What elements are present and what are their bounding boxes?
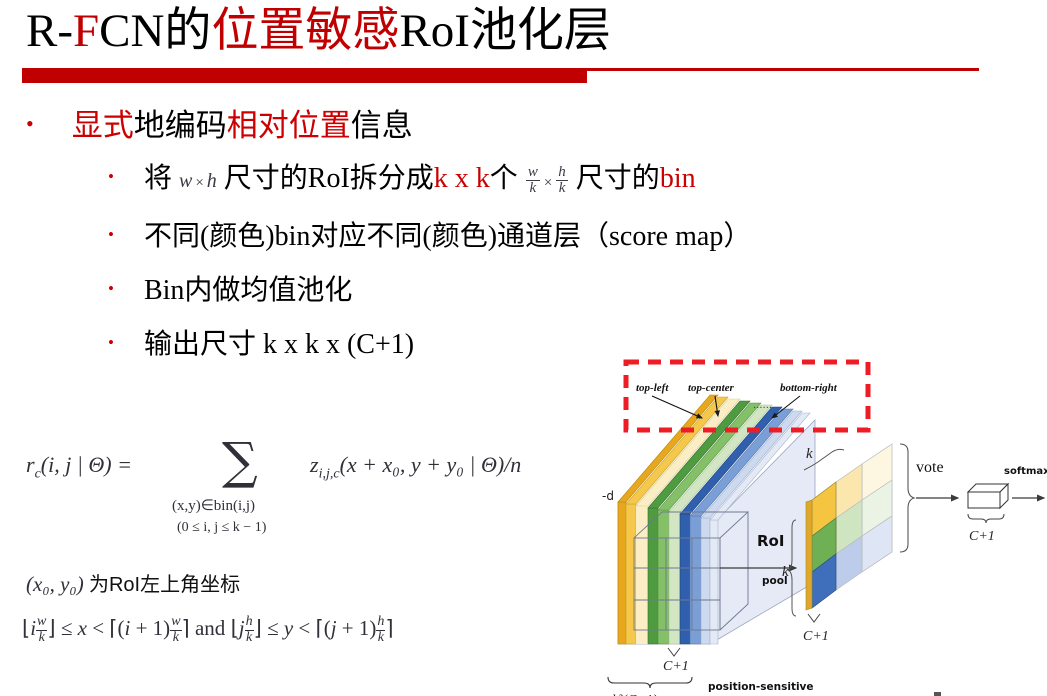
- math-frac-w-over-k: wk: [525, 163, 541, 194]
- list-item-label: 输出尺寸 k x k x (C+1): [144, 318, 414, 372]
- list-item: • Bin内做均值池化: [0, 264, 660, 318]
- title-segment-4: RoI池化层: [399, 5, 611, 57]
- text-segment: bin: [660, 163, 696, 194]
- bullet-marker-icon: •: [108, 334, 114, 351]
- formula-rhs-args: (x + x₀, y + y₀ | Θ)/n: [340, 452, 522, 477]
- label-ellipsis: ......: [753, 400, 772, 411]
- callout-arrow-top-left: [652, 396, 702, 418]
- title-segment-3: 位置敏感: [211, 5, 399, 57]
- page-title: R-FCN的位置敏感RoI池化层: [26, 2, 611, 60]
- text-segment: 显式: [72, 108, 134, 143]
- math-times-operator: ×: [541, 175, 555, 191]
- formula-sum-condition-2: (0 ≤ i, j ≤ k − 1): [177, 520, 266, 536]
- list-item-label: 显式地编码相对位置信息: [72, 104, 413, 148]
- title-underline-thick: [22, 70, 587, 83]
- text-segment: 信息: [351, 108, 413, 143]
- list-item: • 输出尺寸 k x k x (C+1): [0, 318, 660, 372]
- formula-lhs: rc(i, j | Θ) =: [26, 452, 132, 482]
- text-segment: 将: [144, 163, 179, 194]
- depth-label: -d: [602, 489, 614, 503]
- title-segment-0: R-: [26, 5, 73, 57]
- title-segment-1: F: [73, 5, 99, 57]
- ceil-close-bracket: ⌉: [182, 616, 190, 640]
- math-frac-h-over-k: hk: [555, 163, 569, 194]
- k-label-left: k: [782, 564, 789, 580]
- c-plus-1-mid: C+1: [803, 629, 829, 644]
- formula-lhs-args: (i, j | Θ) =: [41, 452, 132, 477]
- text-segment: 尺寸的RoI拆分成: [217, 163, 434, 194]
- bullet-marker-icon: •: [26, 113, 34, 135]
- bullet-marker-icon: •: [108, 280, 114, 297]
- ceil-open-bracket: ⌈: [109, 616, 117, 640]
- formula-main: rc(i, j | Θ) = ∑ (x,y)∈bin(i,j) (0 ≤ i, …: [14, 438, 594, 550]
- softmax-label: softmax: [1004, 466, 1047, 477]
- text-segment: k x k: [434, 163, 490, 194]
- k2-brace: [608, 677, 692, 688]
- bullet-list: • 显式地编码相对位置信息 • 将 w×h 尺寸的RoI拆分成k x k个 wk…: [0, 104, 660, 372]
- output-vector-box: [968, 484, 1008, 508]
- label-top-left: top-left: [636, 382, 669, 394]
- rfcn-architecture-diagram: -d RoI top-left top-center bottom-right …: [600, 352, 1047, 696]
- formula-note-text: 为RoI左上角坐标: [89, 574, 240, 596]
- formula-lhs-symbol: r: [26, 452, 35, 477]
- formula-area: rc(i, j | Θ) = ∑ (x,y)∈bin(i,j) (0 ≤ i, …: [14, 438, 594, 609]
- text-segment: 相对位置: [227, 108, 351, 143]
- formula-range: ⌊iwk⌋ ≤ x < ⌈(i + 1)wk⌉ and ⌊jhk⌋ ≤ y < …: [22, 615, 602, 645]
- vote-brace: [900, 444, 914, 552]
- math-w-times-h: w×h: [179, 170, 217, 192]
- label-top-center: top-center: [688, 382, 735, 394]
- roi-label: RoI: [757, 532, 784, 550]
- text-segment: 个: [490, 163, 525, 194]
- score-maps-label-line1: position-sensitive: [708, 681, 814, 693]
- list-item: • 将 w×h 尺寸的RoI拆分成k x k个 wk×hk 尺寸的bin: [0, 152, 660, 210]
- c-plus-1-left: C+1: [663, 659, 689, 674]
- floor-open-bracket: ⌊: [22, 616, 30, 640]
- formula-rhs: zi,j,c(x + x₀, y + y₀ | Θ)/n: [310, 452, 521, 482]
- list-item-label: 将 w×h 尺寸的RoI拆分成k x k个 wk×hk 尺寸的bin: [144, 152, 696, 210]
- title-block: R-FCN的位置敏感RoI池化层: [0, 0, 1047, 86]
- list-item-label: Bin内做均值池化: [144, 264, 352, 318]
- bullet-marker-icon: •: [108, 226, 114, 243]
- k-label-top: k: [806, 446, 813, 462]
- formula-note: (x₀, y₀) 为RoI左上角坐标: [26, 568, 606, 597]
- list-item: • 显式地编码相对位置信息: [0, 104, 660, 148]
- vote-label: vote: [916, 459, 944, 476]
- text-segment: 尺寸的: [569, 163, 660, 194]
- pooled-kxk-grid: [806, 444, 892, 610]
- formula-rhs-subscript: i,j,c: [319, 466, 340, 481]
- text-segment: 地编码: [134, 108, 227, 143]
- c-plus-1-right: C+1: [969, 529, 995, 544]
- and-operator: and: [195, 616, 225, 640]
- lt-operator: <: [92, 616, 104, 640]
- list-item: • 不同(颜色)bin对应不同(颜色)通道层（score map）: [0, 210, 660, 264]
- stray-glyph-icon: [934, 692, 941, 696]
- formula-note-coords: (x₀, y₀): [26, 572, 84, 596]
- summation-icon: ∑: [222, 432, 258, 490]
- title-segment-2: CN的: [99, 5, 211, 57]
- bullet-marker-icon: •: [108, 168, 114, 185]
- label-bottom-right: bottom-right: [780, 382, 838, 394]
- formula-sum-condition-1: (x,y)∈bin(i,j): [172, 496, 255, 515]
- le-operator: ≤: [61, 616, 73, 640]
- list-item-label: 不同(颜色)bin对应不同(颜色)通道层（score map）: [144, 210, 751, 264]
- formula-rhs-symbol: z: [310, 452, 319, 477]
- highlight-box: [626, 362, 868, 430]
- floor-close-bracket: ⌋: [47, 616, 55, 640]
